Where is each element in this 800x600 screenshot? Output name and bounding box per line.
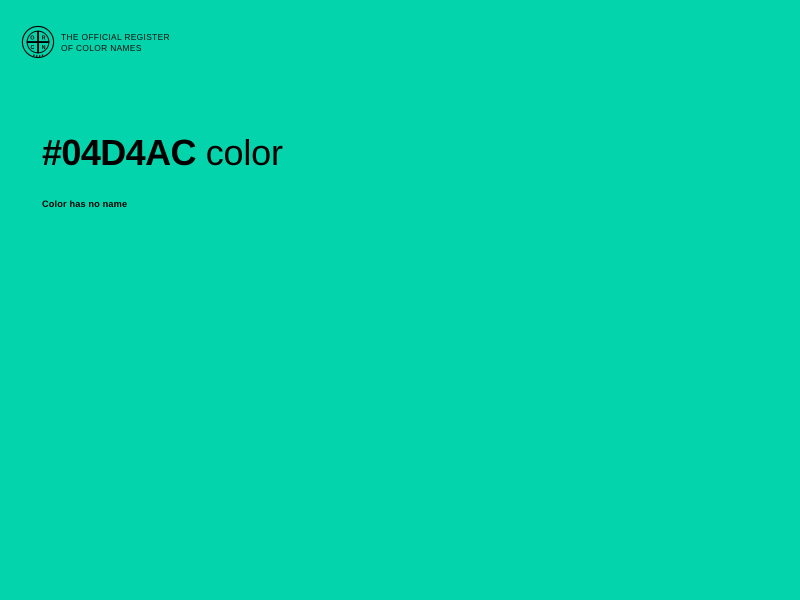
brand-title-line-2: OF COLOR NAMES: [61, 43, 170, 54]
brand-title-line-1: THE OFFICIAL REGISTER: [61, 32, 170, 43]
register-seal-icon: O R C N: [21, 25, 55, 59]
svg-text:N: N: [42, 45, 46, 51]
brand-header[interactable]: O R C N THE OFFICIAL REGISTER OF COLOR N…: [21, 25, 170, 59]
svg-text:O: O: [30, 36, 34, 42]
color-page: O R C N THE OFFICIAL REGISTER OF COLOR N…: [0, 0, 800, 600]
svg-text:C: C: [30, 45, 34, 51]
page-title: #04D4AC color: [42, 131, 283, 175]
page-title-hex: #04D4AC: [42, 132, 196, 173]
page-title-suffix: [196, 132, 206, 173]
page-title-word: color: [206, 132, 283, 173]
svg-text:R: R: [42, 36, 46, 42]
brand-title: THE OFFICIAL REGISTER OF COLOR NAMES: [61, 31, 170, 54]
color-name-status: Color has no name: [42, 199, 127, 209]
